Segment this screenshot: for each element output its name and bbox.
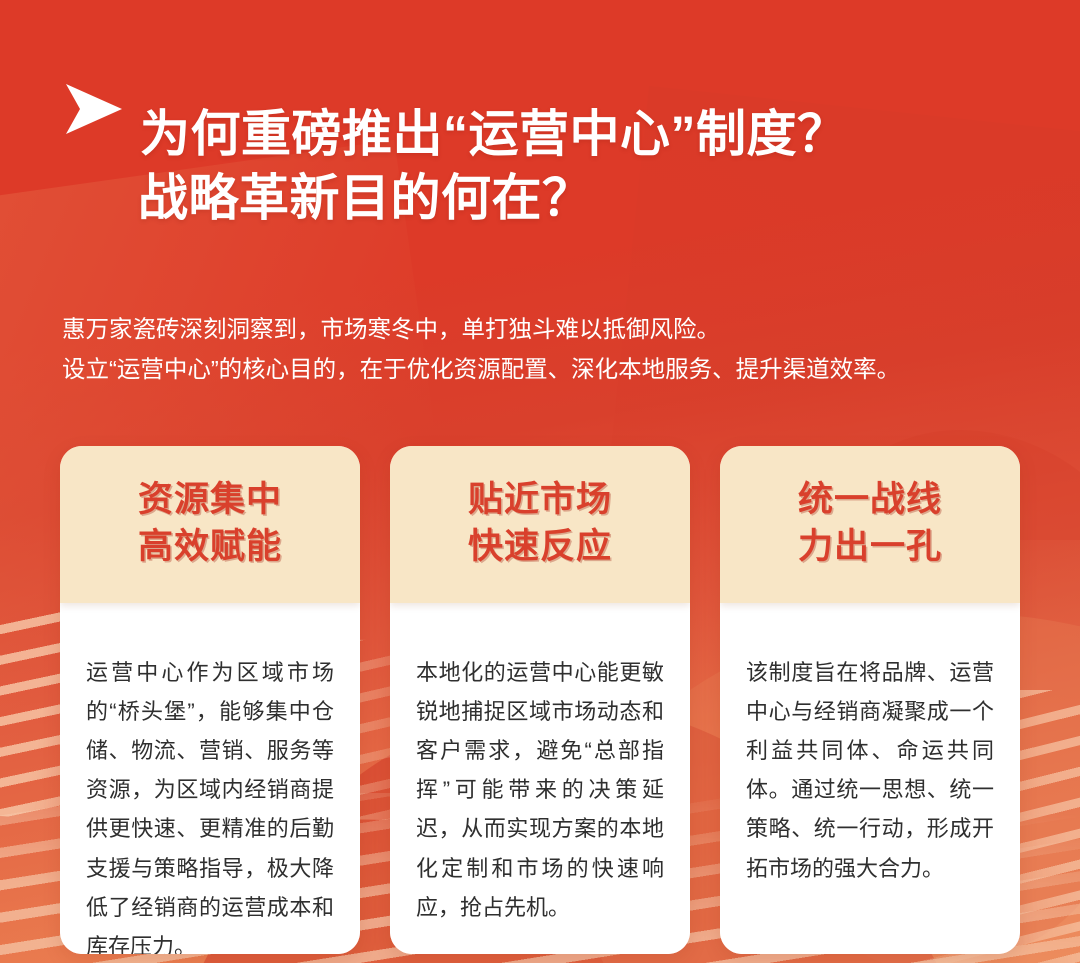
benefit-card-3-heading-line-2: 力出一孔 [798,524,942,571]
benefit-card-2: 贴近市场 快速反应 本地化的运营中心能更敏锐地捕捉区域市场动态和客户需求，避免“… [390,446,690,954]
benefit-card-1-body: 运营中心作为区域市场的“桥头堡”，能够集中仓储、物流、营销、服务等资源，为区域内… [60,603,360,954]
page-title-line-2: 战略革新目的何在？ [138,166,848,230]
benefit-card-1-heading-line-1: 资源集中 [138,477,282,524]
benefit-card-3-header: 统一战线 力出一孔 [720,446,1020,603]
benefit-card-3-text: 该制度旨在将品牌、运营中心与经销商凝聚成一个利益共同体、命运共同体。通过统一思想… [746,653,994,888]
header-section: 为何重磅推出“运营中心”制度？ 战略革新目的何在？ 惠万家瓷砖深刻洞察到，市场寒… [0,0,1080,390]
benefit-card-1-text: 运营中心作为区域市场的“桥头堡”，能够集中仓储、物流、营销、服务等资源，为区域内… [86,653,334,954]
benefit-card-1-heading-line-2: 高效赋能 [138,524,282,571]
triangle-right-icon [62,82,124,136]
subtitle: 惠万家瓷砖深刻洞察到，市场寒冬中，单打独斗难以抵御风险。 设立“运营中心”的核心… [62,309,1020,390]
title-row: 为何重磅推出“运营中心”制度？ 战略革新目的何在？ [62,68,1020,263]
benefit-card-3-heading-line-1: 统一战线 [798,477,942,524]
benefit-card-2-body: 本地化的运营中心能更敏锐地捕捉区域市场动态和客户需求，避免“总部指挥”可能带来的… [390,603,690,954]
benefit-card-1-header: 资源集中 高效赋能 [60,446,360,603]
benefit-card-2-text: 本地化的运营中心能更敏锐地捕捉区域市场动态和客户需求，避免“总部指挥”可能带来的… [416,653,664,927]
subtitle-line-2: 设立“运营中心”的核心目的，在于优化资源配置、深化本地服务、提升渠道效率。 [62,349,1020,389]
benefit-card-2-header: 贴近市场 快速反应 [390,446,690,603]
benefit-card-2-heading-line-2: 快速反应 [468,524,612,571]
card-row: 资源集中 高效赋能 运营中心作为区域市场的“桥头堡”，能够集中仓储、物流、营销、… [0,446,1080,954]
benefit-card-3-body: 该制度旨在将品牌、运营中心与经销商凝聚成一个利益共同体、命运共同体。通过统一思想… [720,603,1020,954]
page-title-line-1: 为何重磅推出“运营中心”制度？ [140,102,848,166]
benefit-card-3: 统一战线 力出一孔 该制度旨在将品牌、运营中心与经销商凝聚成一个利益共同体、命运… [720,446,1020,954]
poster-root: 为何重磅推出“运营中心”制度？ 战略革新目的何在？ 惠万家瓷砖深刻洞察到，市场寒… [0,0,1080,963]
subtitle-line-1: 惠万家瓷砖深刻洞察到，市场寒冬中，单打独斗难以抵御风险。 [62,309,1020,349]
page-title: 为何重磅推出“运营中心”制度？ 战略革新目的何在？ [140,102,848,230]
benefit-card-2-heading-line-1: 贴近市场 [468,477,612,524]
benefit-card-1: 资源集中 高效赋能 运营中心作为区域市场的“桥头堡”，能够集中仓储、物流、营销、… [60,446,360,954]
